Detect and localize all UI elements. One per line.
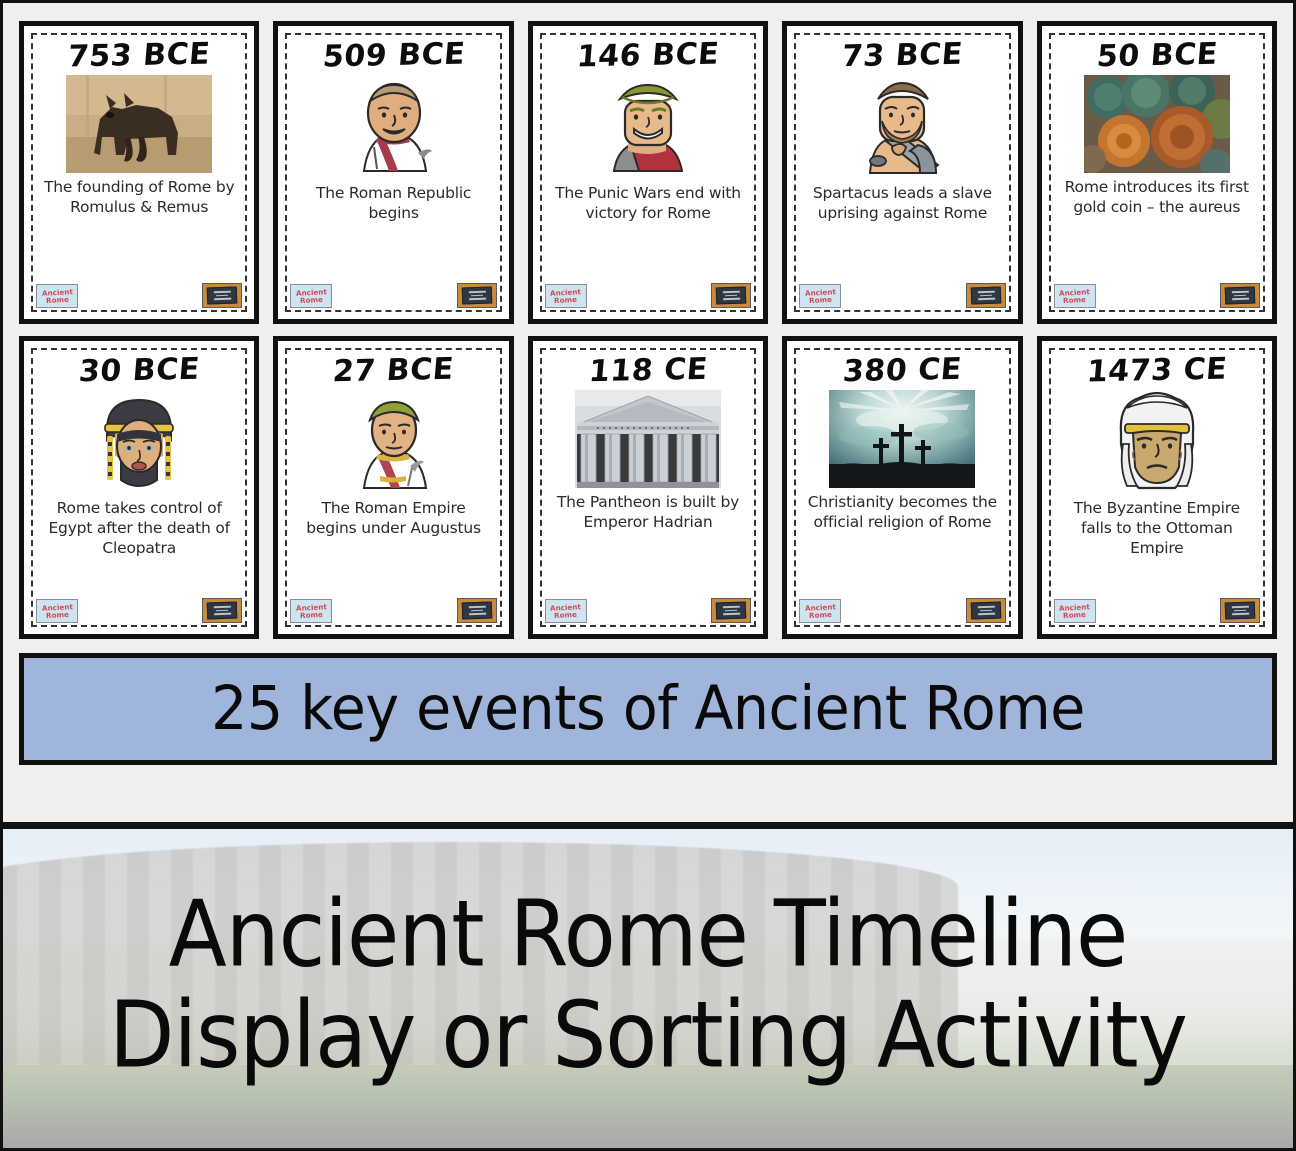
chalkboard-logo-icon — [1220, 283, 1260, 308]
product-title-line-2: Display or Sorting Activity — [109, 989, 1187, 1081]
timeline-card[interactable]: 509 BCE — [273, 21, 513, 324]
ancient-rome-badge: Ancient Rome — [36, 284, 78, 308]
chalkboard-logo-icon — [966, 598, 1006, 623]
card-inner-dashed-border: 50 BCE — [1049, 33, 1265, 312]
card-date: 118 CE — [587, 355, 708, 387]
product-title-block: Ancient Rome Timeline Display or Sorting… — [3, 829, 1293, 1148]
pantheon-photo — [575, 390, 721, 488]
ancient-rome-badge: Ancient Rome — [545, 284, 587, 308]
card-inner-dashed-border: 27 BCE — [285, 348, 501, 627]
card-inner-dashed-border: 146 BCE — [540, 33, 756, 312]
timeline-card[interactable]: 146 BCE — [528, 21, 768, 324]
card-footer: Ancient Rome — [36, 597, 242, 623]
card-date: 30 BCE — [78, 355, 201, 388]
chalkboard-logo-icon — [1220, 598, 1260, 623]
timeline-card[interactable]: 380 CE — [782, 336, 1022, 639]
timeline-card-grid: 753 BCE — [19, 21, 1277, 639]
timeline-card[interactable]: 1473 CE — [1037, 336, 1277, 639]
ancient-coins-photo — [1084, 75, 1230, 173]
title-photo-section: Ancient Rome Timeline Display or Sorting… — [0, 822, 1296, 1151]
poster-page: 753 BCE — [0, 0, 1296, 1151]
cards-and-banner-section: 753 BCE — [0, 0, 1296, 822]
three-crosses-photo — [829, 390, 975, 488]
ancient-rome-badge: Ancient Rome — [799, 284, 841, 308]
cleopatra-cartoon — [79, 390, 199, 494]
ancient-rome-badge: Ancient Rome — [799, 599, 841, 623]
card-date: 380 CE — [842, 355, 963, 387]
ancient-rome-badge: Ancient Rome — [1054, 599, 1096, 623]
product-title-line-1: Ancient Rome Timeline — [169, 890, 1128, 980]
roman-senator-cartoon — [334, 75, 454, 179]
card-inner-dashed-border: 380 CE — [794, 348, 1010, 627]
card-footer: Ancient Rome — [545, 597, 751, 623]
capitoline-wolf-statue-photo — [66, 75, 212, 173]
badge-line-2: Rome — [1063, 611, 1086, 619]
card-inner-dashed-border: 1473 CE — [1049, 348, 1265, 627]
card-footer: Ancient Rome — [799, 282, 1005, 308]
card-date: 509 BCE — [321, 40, 466, 73]
badge-line-2: Rome — [809, 611, 832, 619]
card-inner-dashed-border: 509 BCE — [285, 33, 501, 312]
card-inner-dashed-border: 753 BCE — [31, 33, 247, 312]
card-inner-dashed-border: 30 BCE — [31, 348, 247, 627]
card-inner-dashed-border: 73 BCE — [794, 33, 1010, 312]
gladiator-spartacus-cartoon — [842, 75, 962, 179]
banner-label: 25 key events of Ancient Rome — [211, 674, 1085, 744]
badge-line-2: Rome — [45, 611, 68, 619]
card-footer: Ancient Rome — [290, 597, 496, 623]
card-date: 50 BCE — [1095, 40, 1218, 73]
card-footer: Ancient Rome — [799, 597, 1005, 623]
card-date: 1473 CE — [1085, 355, 1228, 388]
ancient-rome-badge: Ancient Rome — [36, 599, 78, 623]
badge-line-2: Rome — [45, 296, 68, 304]
timeline-card[interactable]: 30 BCE — [19, 336, 259, 639]
card-footer: Ancient Rome — [545, 282, 751, 308]
card-date: 73 BCE — [841, 40, 964, 73]
ancient-rome-badge: Ancient Rome — [545, 599, 587, 623]
card-date: 27 BCE — [332, 355, 455, 388]
badge-line-2: Rome — [300, 296, 323, 304]
key-events-banner: 25 key events of Ancient Rome — [19, 653, 1277, 765]
card-footer: Ancient Rome — [1054, 597, 1260, 623]
card-footer: Ancient Rome — [36, 282, 242, 308]
card-inner-dashed-border: 118 CE — [540, 348, 756, 627]
badge-line-2: Rome — [554, 611, 577, 619]
chalkboard-logo-icon — [457, 283, 497, 308]
ancient-rome-badge: Ancient Rome — [290, 284, 332, 308]
ottoman-sultan-cartoon — [1097, 390, 1217, 494]
chalkboard-logo-icon — [202, 598, 242, 623]
roman-general-laurel-cartoon — [588, 75, 708, 179]
badge-line-2: Rome — [554, 296, 577, 304]
timeline-card[interactable]: 73 BCE — [782, 21, 1022, 324]
timeline-card[interactable]: 753 BCE — [19, 21, 259, 324]
card-date: 753 BCE — [67, 40, 212, 73]
timeline-card[interactable]: 50 BCE — [1037, 21, 1277, 324]
chalkboard-logo-icon — [966, 283, 1006, 308]
ancient-rome-badge: Ancient Rome — [1054, 284, 1096, 308]
card-footer: Ancient Rome — [1054, 282, 1260, 308]
timeline-card[interactable]: 118 CE — [528, 336, 768, 639]
badge-line-2: Rome — [809, 296, 832, 304]
augustus-cartoon — [334, 390, 454, 494]
badge-line-2: Rome — [300, 611, 323, 619]
ancient-rome-badge: Ancient Rome — [290, 599, 332, 623]
timeline-card[interactable]: 27 BCE — [273, 336, 513, 639]
chalkboard-logo-icon — [457, 598, 497, 623]
chalkboard-logo-icon — [202, 283, 242, 308]
badge-line-2: Rome — [1063, 296, 1086, 304]
card-date: 146 BCE — [576, 40, 721, 73]
card-footer: Ancient Rome — [290, 282, 496, 308]
chalkboard-logo-icon — [711, 598, 751, 623]
chalkboard-logo-icon — [711, 283, 751, 308]
